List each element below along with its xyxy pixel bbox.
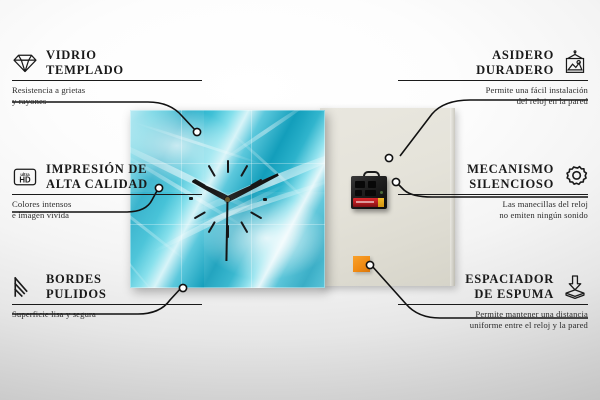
mechanism-slot — [368, 181, 376, 188]
feature-bordes-pulidos: BORDES PULIDOS Superficie lisa y segura — [12, 272, 202, 320]
ultra-hd-icon: ultra HD — [12, 164, 38, 190]
divider — [398, 194, 588, 195]
feature-heading: ultra HD IMPRESIÓN DE ALTA CALIDAD — [12, 162, 202, 191]
feature-title: BORDES PULIDOS — [46, 272, 106, 301]
feature-description-line1: Colores intensos — [12, 199, 202, 210]
feature-heading: VIDRIO TEMPLADO — [12, 48, 202, 77]
feature-asidero-duradero: ASIDERO DURADERO Permite una fácil insta… — [398, 48, 588, 106]
feature-title: IMPRESIÓN DE ALTA CALIDAD — [46, 162, 148, 191]
mechanism-body — [351, 176, 387, 209]
feature-description-line2: uniforme entre el reloj y la pared — [398, 320, 588, 331]
feature-description-line2: no emiten ningún sonido — [398, 210, 588, 221]
feature-espaciador-de-espuma: ESPACIADOR DE ESPUMA Permite mantener un… — [398, 272, 588, 330]
battery-label — [356, 201, 374, 203]
feature-description-line1: Las manecillas del reloj — [398, 199, 588, 210]
divider — [12, 80, 202, 81]
feature-description-line2: del reloj en la pared — [398, 96, 588, 107]
wall-hanger-frame-icon — [562, 50, 588, 76]
battery — [353, 198, 384, 207]
gear-icon — [562, 164, 588, 190]
feature-title: VIDRIO TEMPLADO — [46, 48, 124, 77]
hd-label: HD — [19, 175, 31, 184]
feature-heading: MECANISMO SILENCIOSO — [398, 162, 588, 191]
feature-description-line1: Superficie lisa y segura — [12, 309, 202, 320]
divider — [398, 80, 588, 81]
foam-spacer — [353, 256, 370, 272]
feature-impresion-alta-calidad: ultra HD IMPRESIÓN DE ALTA CALIDAD Color… — [12, 162, 202, 220]
polished-edges-icon — [12, 274, 38, 300]
feature-vidrio-templado: VIDRIO TEMPLADO Resistencia a grietas y … — [12, 48, 202, 106]
mechanism-slot — [355, 181, 365, 188]
mechanism-slot — [365, 190, 376, 196]
feature-title: ASIDERO DURADERO — [476, 48, 554, 77]
divider — [12, 194, 202, 195]
feature-heading: ASIDERO DURADERO — [398, 48, 588, 77]
feature-description-line1: Permite mantener una distancia — [398, 309, 588, 320]
battery-positive-terminal — [378, 198, 384, 207]
infographic-canvas: VIDRIO TEMPLADO Resistencia a grietas y … — [0, 0, 600, 400]
foam-spacer-arrow-icon — [562, 274, 588, 300]
feature-title: ESPACIADOR DE ESPUMA — [465, 272, 554, 301]
feature-mecanismo-silencioso: MECANISMO SILENCIOSO Las manecillas del … — [398, 162, 588, 220]
mechanism-slot — [355, 190, 362, 196]
feature-description-line1: Permite una fácil instalación — [398, 85, 588, 96]
mechanism-indicator — [380, 191, 383, 194]
feature-heading: ESPACIADOR DE ESPUMA — [398, 272, 588, 301]
feature-description-line2: e imagen vívida — [12, 210, 202, 221]
feature-title: MECANISMO SILENCIOSO — [467, 162, 554, 191]
clock-mechanism — [351, 176, 387, 209]
feature-heading: BORDES PULIDOS — [12, 272, 202, 301]
divider — [398, 304, 588, 305]
feature-description-line2: y rayones — [12, 96, 202, 107]
feature-description-line1: Resistencia a grietas — [12, 85, 202, 96]
divider — [12, 304, 202, 305]
diamond-icon — [12, 50, 38, 76]
